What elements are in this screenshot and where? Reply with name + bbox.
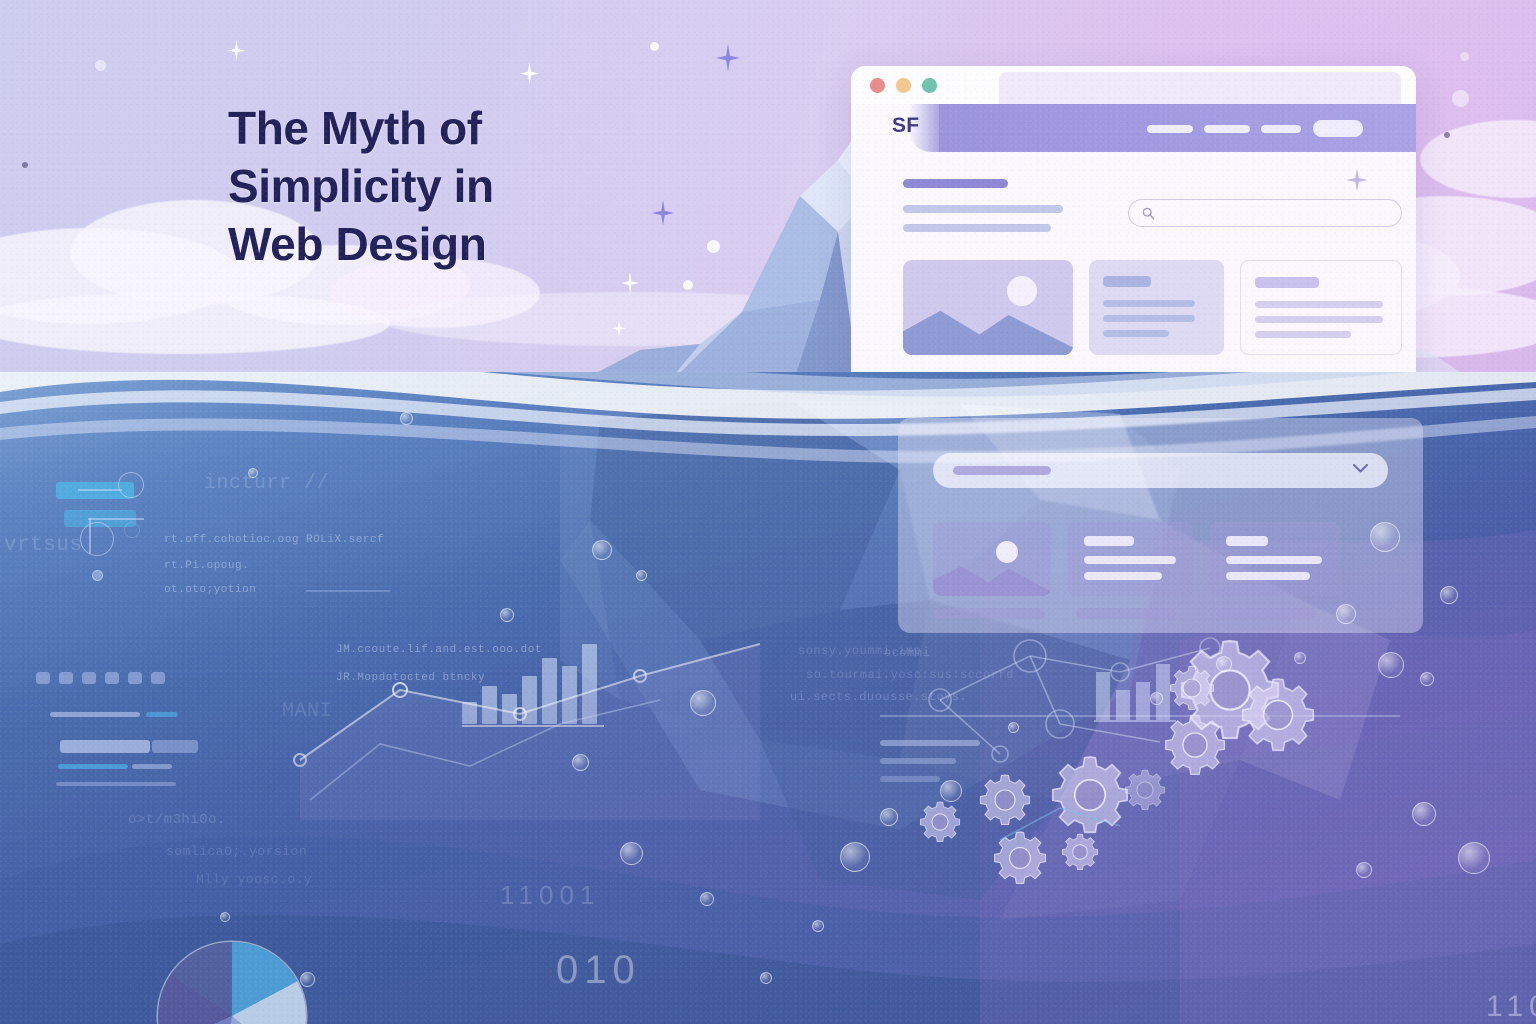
browser-content [851,152,1416,384]
browser-window[interactable]: SF [851,66,1416,384]
card-line [1255,331,1351,338]
text-card-outlined[interactable] [1240,260,1402,355]
site-navbar [939,104,1416,152]
card-line [1084,556,1176,564]
hero-body-line-2 [903,224,1051,232]
nav-link-1[interactable] [1147,125,1193,133]
chevron-down-icon[interactable] [1353,464,1368,473]
card-line [1255,301,1383,308]
card-line [1226,556,1322,564]
image-card[interactable] [903,260,1073,355]
card-caption [933,608,1045,619]
browser-title-bar [851,66,1416,104]
sub-search-text-placeholder [953,466,1051,475]
card-title-bar [1103,276,1151,287]
card-caption [1076,608,1176,619]
sub-text-card-1[interactable] [1068,522,1193,596]
image-placeholder-icon [1007,276,1037,306]
sub-text-card-2[interactable] [1210,522,1340,596]
minimize-button[interactable] [896,78,911,93]
close-button[interactable] [870,78,885,93]
search-icon [1142,207,1155,220]
card-line [1084,572,1162,580]
sub-search-input[interactable] [933,453,1388,488]
hero-illustration: The Myth of Simplicity in Web Design [0,0,1536,1024]
browser-tab[interactable] [999,72,1401,104]
card-line [1226,572,1310,580]
card-line [1103,315,1195,322]
card-line [1103,330,1169,337]
ocean: 010 0010 01 11001 011111 0111 01 0 1 011… [0,372,1536,1024]
text-card-filled[interactable] [1089,260,1224,355]
site-logo[interactable]: SF [892,114,936,144]
hero-body-line-1 [903,205,1063,213]
card-caption [1216,608,1316,619]
submerged-browser-window[interactable] [898,418,1423,633]
card-title-bar [1226,536,1268,546]
nav-cta-button[interactable] [1313,120,1363,137]
card-title-bar [1084,536,1134,546]
card-line [1103,300,1195,307]
sparkle-icon [1346,169,1368,191]
image-placeholder-mountains [903,301,1073,355]
nav-link-3[interactable] [1261,125,1301,133]
card-title-bar [1255,277,1319,288]
search-input[interactable] [1128,199,1402,227]
nav-link-2[interactable] [1204,125,1250,133]
maximize-button[interactable] [922,78,937,93]
hero-heading-placeholder [903,179,1008,188]
sub-image-card[interactable] [933,522,1051,596]
image-placeholder-icon [996,541,1018,563]
image-placeholder-mountains [933,558,1051,596]
card-line [1255,316,1383,323]
